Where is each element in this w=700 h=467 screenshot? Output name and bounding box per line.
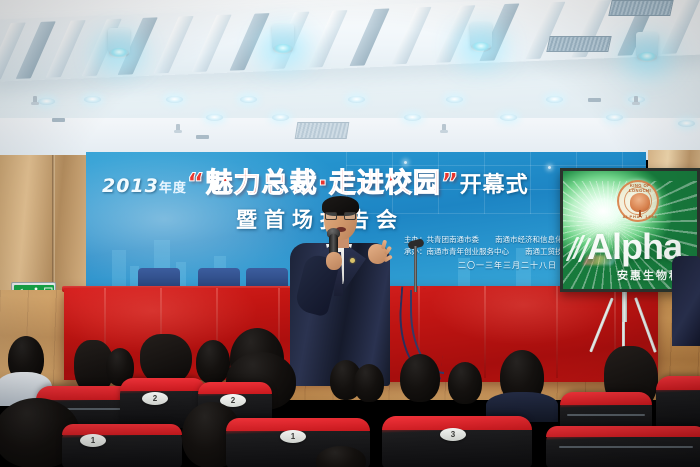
sprinkler-icon <box>442 124 446 131</box>
ceiling-spotlight <box>272 24 294 50</box>
ceiling-downlight <box>240 96 257 103</box>
ceiling-spotlight <box>108 28 130 54</box>
seal-text-bottom: ALPHAY 1994 <box>619 214 661 219</box>
ceiling-downlight <box>546 96 563 103</box>
brand-wordmark: Alpha <box>587 229 682 265</box>
seat-number-badge: 1 <box>80 434 106 447</box>
banner-year: 2013 <box>102 175 159 197</box>
credit-org1: 共青团南通市委 <box>427 235 480 244</box>
audience-head <box>448 362 482 404</box>
ceiling-downlight <box>404 114 421 121</box>
seat-front[interactable]: 3 <box>382 416 532 467</box>
ceiling-speaker <box>588 98 601 102</box>
ceiling-spotlight <box>470 22 492 48</box>
ceiling-downlight <box>678 120 695 127</box>
audience-head <box>196 340 230 384</box>
ceiling-spotlight <box>636 32 658 58</box>
banner-quote-close: ” <box>441 168 460 199</box>
ceiling-speaker <box>52 118 65 122</box>
seat-front[interactable]: 1 <box>62 424 182 467</box>
seal-text-top: KING OF LONGCHI <box>619 183 661 193</box>
company-seal-logo: KING OF LONGCHI ALPHAY 1994 <box>617 180 659 222</box>
lapel-badge <box>350 258 355 263</box>
ac-vent-icon <box>546 36 611 52</box>
audience-head <box>354 364 384 402</box>
microphone-stand <box>414 246 417 292</box>
ac-vent-icon <box>608 0 673 16</box>
ceiling-downlight <box>38 98 55 105</box>
credit-org2: 南通市经济和信息化委 <box>495 235 570 244</box>
banner-year-suffix: 年度 <box>159 181 187 196</box>
eyeglasses-icon <box>325 212 356 220</box>
audience-head <box>400 354 440 402</box>
tripod-post <box>622 292 627 322</box>
ceiling-speaker <box>196 135 209 139</box>
banner-quote-open: “ <box>187 168 206 199</box>
speaker-right-hand <box>326 252 342 270</box>
banner-date: 二〇一三年三月二十八日 <box>458 260 557 271</box>
ceiling-diffuser <box>295 122 350 139</box>
ceiling-downlight <box>272 114 289 121</box>
banner-title: 2013年度“魅力总裁·走进校园”开幕式 <box>102 161 637 200</box>
ceiling-downlight <box>606 114 623 121</box>
standing-person <box>672 256 700 346</box>
sprinkler-icon <box>33 96 37 103</box>
banner-title-tail: 开幕式 <box>460 173 529 198</box>
seat-number-badge: 1 <box>280 430 306 443</box>
credit-org1: 南通市青年创业服务中心 <box>427 247 510 256</box>
sprinkler-icon <box>634 96 638 103</box>
ceiling-downlight <box>500 114 517 121</box>
photo-scene: 2013年度“魅力总裁·走进校园”开幕式 暨首场报告会 主办：共青团南通市委南通… <box>0 0 700 467</box>
seat-front[interactable] <box>546 426 700 467</box>
seat-back[interactable] <box>656 376 700 430</box>
sprinkler-icon <box>176 124 180 131</box>
ceiling-downlight <box>206 114 223 121</box>
banner-main-title: 魅力总裁·走进校园 <box>206 168 441 199</box>
ceiling-downlight <box>348 96 365 103</box>
ceiling-downlight <box>84 96 101 103</box>
ceiling-downlight <box>446 96 463 103</box>
ceiling-downlight <box>166 96 183 103</box>
seat-number-badge: 3 <box>440 428 466 441</box>
speaker-person <box>282 196 398 386</box>
seat-number-badge: 2 <box>142 392 168 405</box>
